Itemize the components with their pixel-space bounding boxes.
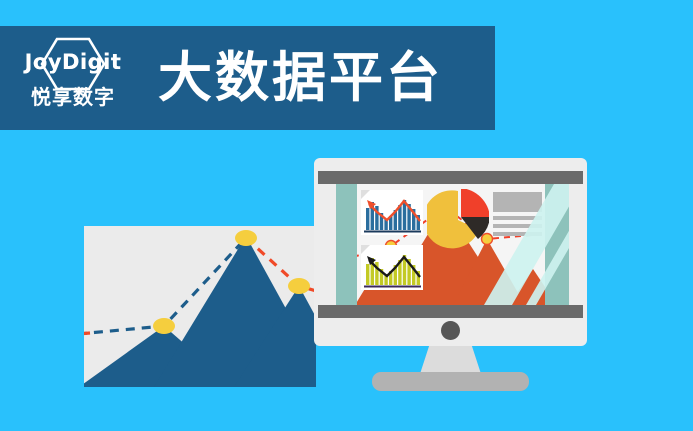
screen-side-band-right — [545, 184, 569, 305]
olive-bar-line-card — [361, 245, 423, 290]
monitor-stand-base — [372, 372, 529, 391]
logo-subtitle: 悦享数字 — [31, 81, 115, 110]
screen-side-band-left — [336, 184, 357, 305]
blue-bar-line-card — [361, 190, 423, 235]
placeholder-line — [493, 224, 542, 228]
camera-dot-icon — [441, 321, 460, 340]
illustration-canvas: JoyDigit 悦享数字 大数据平台 — [0, 0, 693, 431]
page-fold-icon — [361, 190, 370, 199]
arrow-head-icon — [367, 200, 376, 209]
left-mountain-chart — [84, 226, 316, 387]
logo-wordmark: JoyDigit — [25, 50, 122, 74]
brand-logo: JoyDigit 悦享数字 — [14, 35, 132, 121]
trend-line-red-tail — [84, 333, 90, 334]
axis-line — [364, 286, 421, 288]
desktop-monitor — [314, 158, 587, 390]
page-title: 大数据平台 — [158, 51, 443, 105]
monitor-top-bar — [318, 171, 583, 184]
text-placeholder-block — [493, 192, 542, 236]
left-mountain-panel — [84, 226, 316, 387]
arrow-head-icon — [367, 256, 376, 265]
data-marker — [235, 230, 257, 246]
pie-chart — [427, 189, 489, 251]
data-marker — [153, 318, 175, 334]
monitor-bottom-bar — [318, 305, 583, 318]
placeholder-line — [493, 216, 542, 220]
data-marker — [288, 278, 310, 294]
axis-line — [364, 231, 421, 233]
placeholder-image — [493, 192, 542, 212]
dashboard-content — [357, 184, 545, 305]
page-fold-icon — [361, 245, 370, 254]
pie-slice-red — [461, 189, 489, 217]
placeholder-line — [493, 232, 542, 236]
monitor-screen — [336, 184, 569, 305]
header-banner: JoyDigit 悦享数字 大数据平台 — [0, 26, 495, 130]
